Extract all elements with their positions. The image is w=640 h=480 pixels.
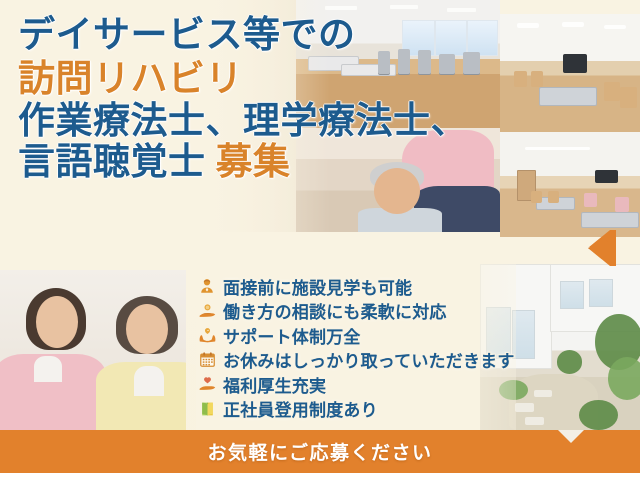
- banner-notch: [558, 430, 584, 443]
- benefit-label: サポート体制万全: [223, 323, 361, 348]
- list-item: 働き方の相談にも柔軟に対応: [196, 299, 556, 324]
- hand-coin-icon: [196, 301, 218, 321]
- list-item: 正社員登用制度あり: [196, 397, 556, 422]
- book-icon: [196, 399, 218, 419]
- benefit-label: 福利厚生充実: [223, 372, 326, 397]
- list-item: 面接前に施設見学も可能: [196, 274, 556, 299]
- headline-line-4: 言語聴覚士募集: [18, 143, 488, 181]
- photo-dining-room: [500, 14, 640, 132]
- apply-cta-text: お気軽にご応募ください: [207, 438, 432, 465]
- transport-allowance: 交通費別途支給: [352, 236, 474, 261]
- social-insurance: 社会保険完備: [486, 236, 590, 261]
- benefit-label: 働き方の相談にも柔軟に対応: [223, 298, 447, 323]
- list-item: サポート体制万全: [196, 323, 556, 348]
- job-advertisement-poster: デイサービス等での 訪問リハビリ 作業療法士、理学療法士、 言語聴覚士募集 月給…: [0, 0, 640, 480]
- headline-professions: 言語聴覚士: [18, 140, 206, 183]
- benefit-label: お休みはしっかり取っていただきます: [223, 347, 515, 372]
- hands-support-icon: [196, 325, 218, 345]
- poster-canvas: デイサービス等での 訪問リハビリ 作業療法士、理学療法士、 言語聴覚士募集 月給…: [0, 0, 640, 473]
- headline-block: デイサービス等での 訪問リハビリ 作業療法士、理学療法士、 言語聴覚士募集: [18, 16, 488, 181]
- nurse-person-icon: [196, 276, 218, 296]
- calendar-icon: [196, 350, 218, 370]
- headline-line-1: デイサービス等での: [18, 16, 488, 54]
- benefit-label: 正社員登用制度あり: [223, 396, 378, 421]
- apply-cta-banner: お気軽にご応募ください: [0, 430, 640, 473]
- benefits-list: 面接前に施設見学も可能 働き方の相談にも柔軟に対応: [196, 274, 556, 421]
- photo-lounge-room: [500, 132, 640, 237]
- list-item: 福利厚生充実: [196, 372, 556, 397]
- list-item: お休みはしっかり取っていただきます: [196, 348, 556, 373]
- headline-line-2: 訪問リハビリ: [18, 60, 488, 98]
- salary-amount: 月給 225,000円～289,000円: [70, 236, 324, 261]
- bottom-margin: [0, 473, 640, 480]
- benefit-label: 面接前に施設見学も可能: [223, 274, 412, 299]
- photo-caregiver-and-elderly-woman: [0, 270, 196, 430]
- headline-line-3: 作業療法士、理学療法士、: [18, 102, 488, 140]
- headline-recruit-word: 募集: [216, 140, 291, 183]
- hand-heart-icon: [196, 374, 218, 394]
